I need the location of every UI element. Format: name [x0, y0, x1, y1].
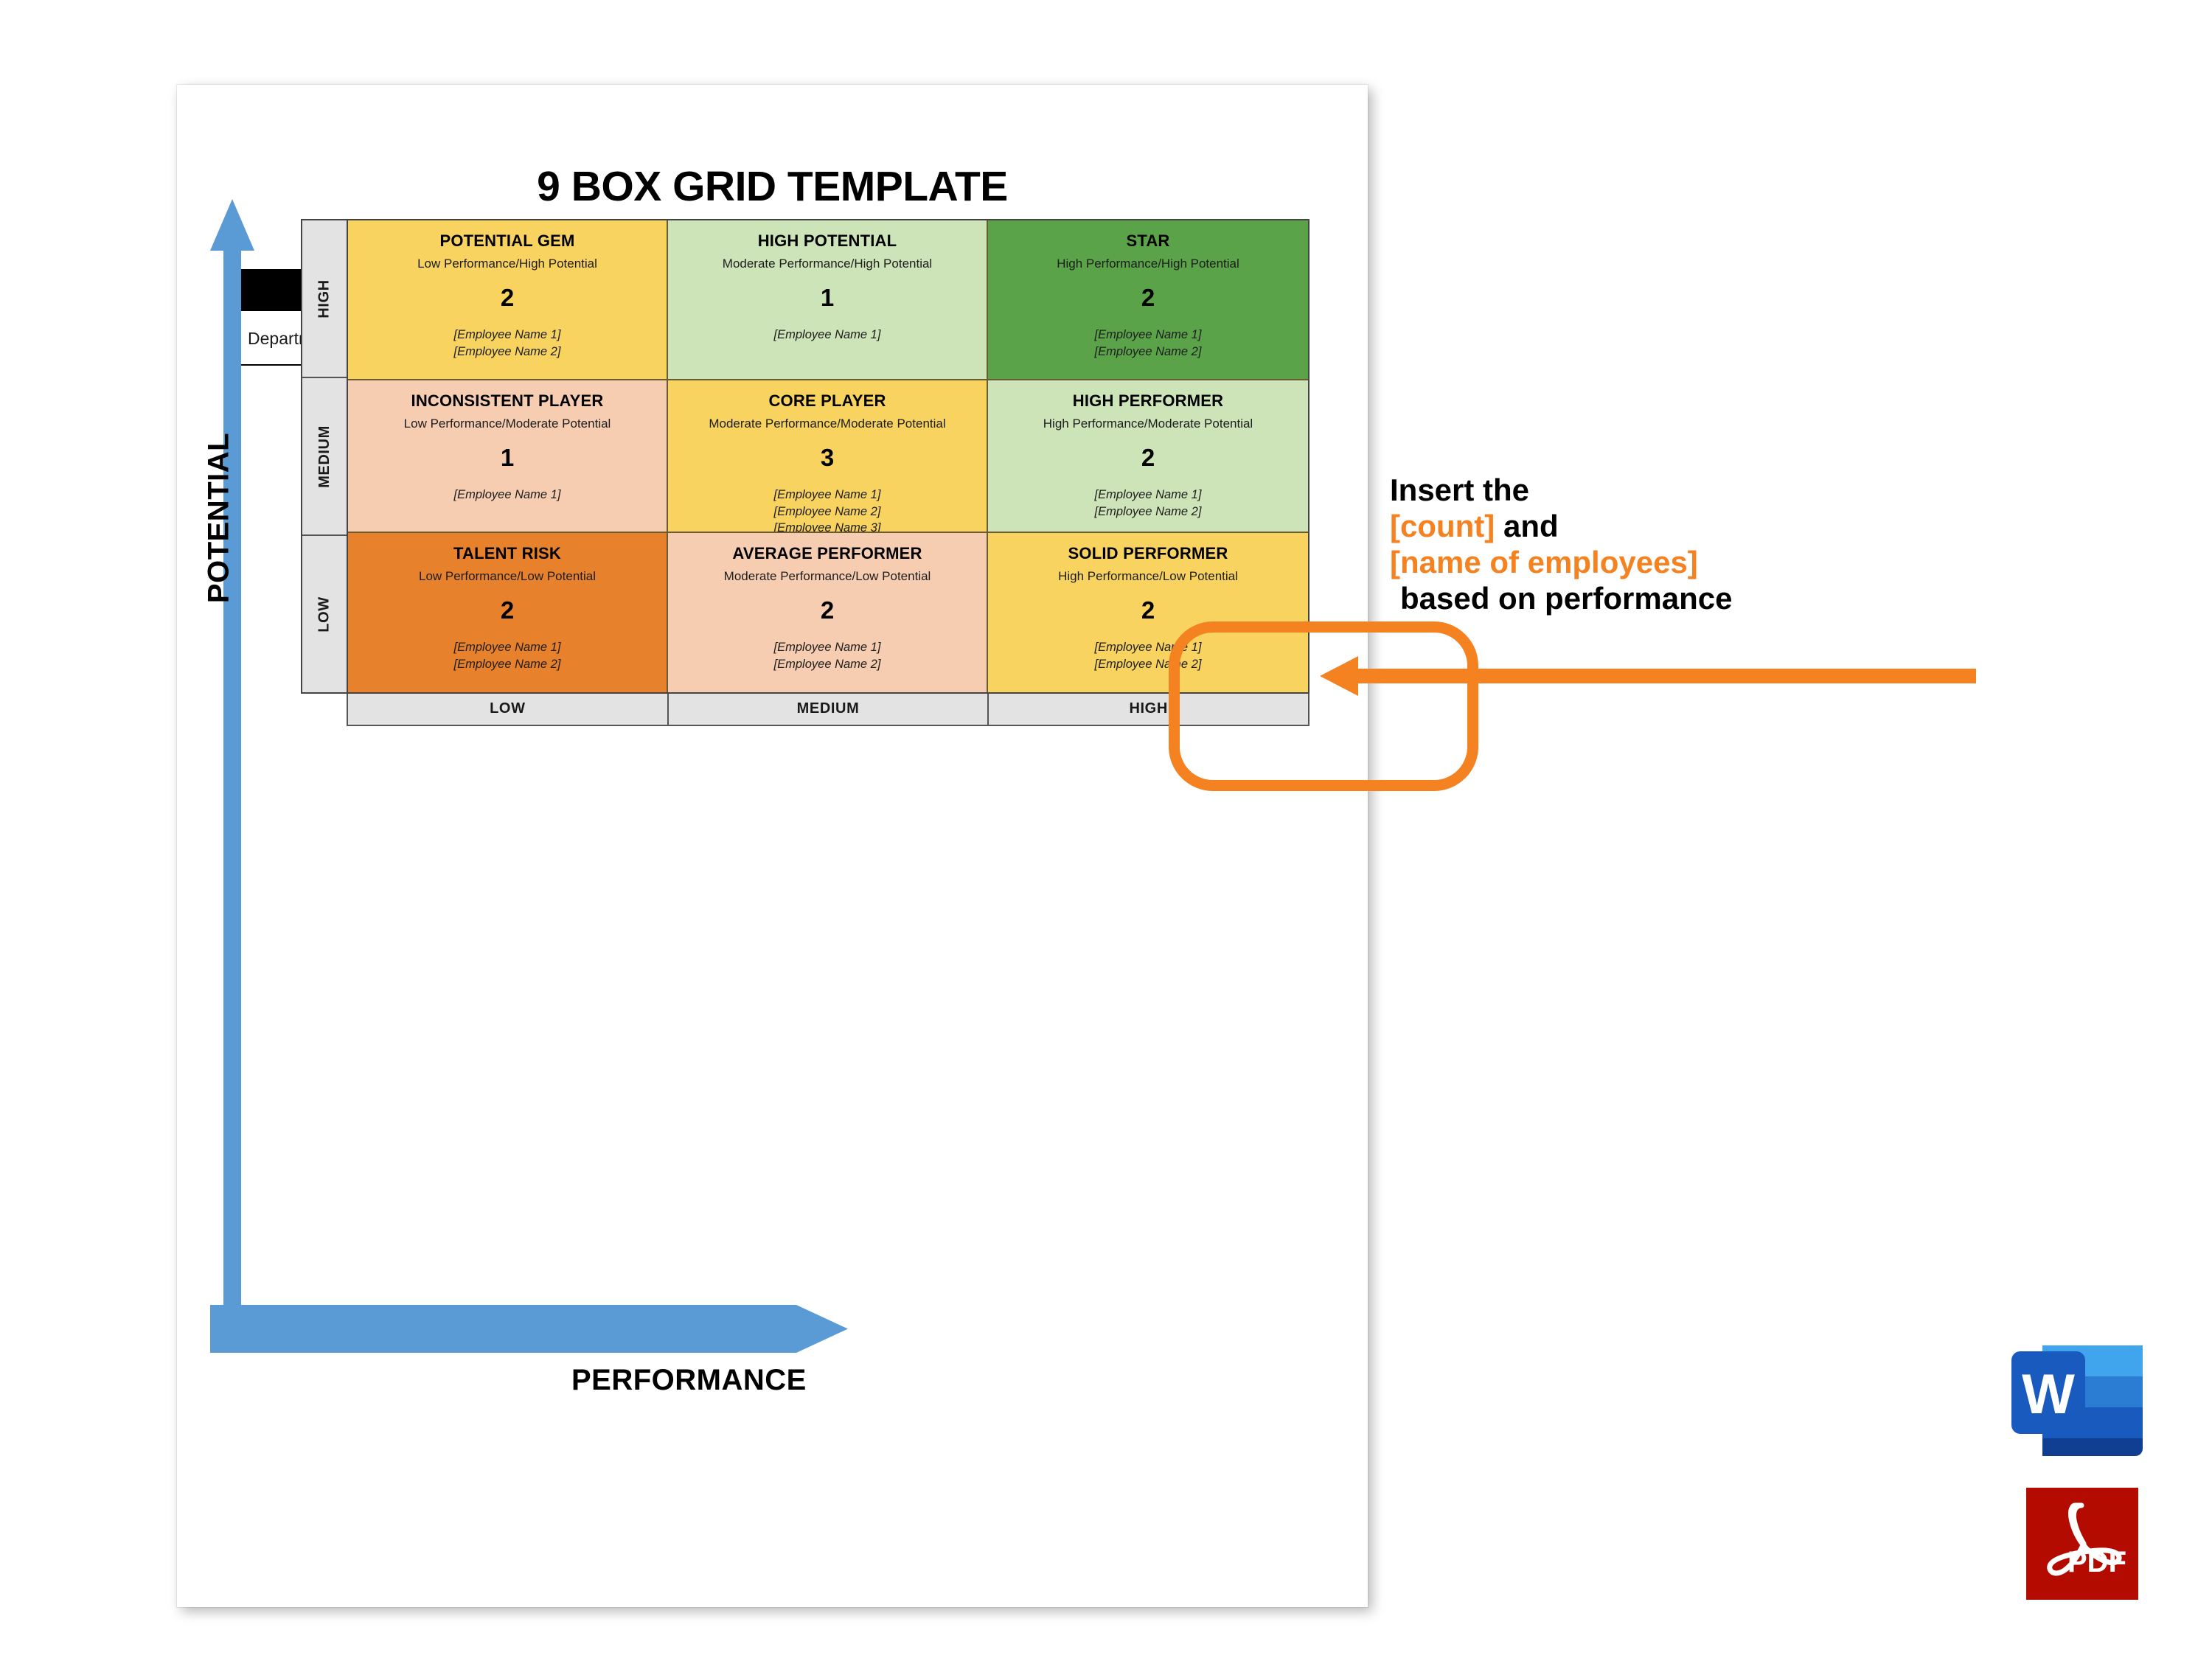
employee-name: [Employee Name 1] [675, 639, 979, 656]
cell-title: CORE PLAYER [675, 391, 979, 411]
employee-name: [Employee Name 1] [355, 487, 659, 504]
svg-text:W: W [2022, 1363, 2075, 1426]
annotation-count-token: [count] [1390, 509, 1495, 543]
grid-cell-high-potential[interactable]: HIGH POTENTIAL Moderate Performance/High… [668, 220, 988, 380]
cell-title: TALENT RISK [355, 543, 659, 564]
word-icon[interactable]: W [2011, 1345, 2143, 1469]
grid-cell-talent-risk[interactable]: TALENT RISK Low Performance/Low Potentia… [348, 533, 668, 692]
cell-subtitle: Low Performance/Low Potential [355, 568, 659, 585]
annotation-pointer-arrow [1320, 655, 1976, 697]
annotation-line-4: based on performance [1390, 580, 1965, 616]
potential-tick-column: HIGH MEDIUM LOW [301, 219, 347, 694]
cell-employee-names: [Employee Name 1] [Employee Name 2] [995, 487, 1301, 520]
potential-tick-high-label: HIGH [316, 279, 333, 318]
cell-employee-names: [Employee Name 1] [Employee Name 2] [355, 639, 659, 673]
employee-name: [Employee Name 2] [995, 344, 1301, 360]
performance-tick-low: LOW [348, 694, 669, 725]
potential-axis-label: POTENTIAL [203, 408, 236, 629]
employee-name: [Employee Name 1] [995, 487, 1301, 504]
cell-employee-names: [Employee Name 1] [Employee Name 2] [355, 327, 659, 360]
document-page: 9 BOX GRID TEMPLATE Information Departme… [177, 85, 1368, 1607]
performance-tick-medium: MEDIUM [669, 694, 990, 725]
employee-name: [Employee Name 2] [355, 344, 659, 360]
grid-cell-average-performer[interactable]: AVERAGE PERFORMER Moderate Performance/L… [668, 533, 988, 692]
potential-tick-high: HIGH [302, 220, 347, 378]
potential-tick-low: LOW [302, 536, 347, 692]
page-title: 9 BOX GRID TEMPLATE [177, 162, 1368, 211]
cell-title: SOLID PERFORMER [995, 543, 1301, 564]
cell-subtitle: High Performance/High Potential [995, 256, 1301, 272]
employee-name: [Employee Name 2] [675, 504, 979, 520]
potential-tick-medium: MEDIUM [302, 378, 347, 536]
cell-employee-names: [Employee Name 1] [675, 327, 979, 344]
cell-title: INCONSISTENT PLAYER [355, 391, 659, 411]
employee-name: [Employee Name 1] [675, 487, 979, 504]
cell-subtitle: High Performance/Moderate Potential [995, 416, 1301, 432]
pdf-icon[interactable]: PDF [2026, 1488, 2138, 1600]
cell-subtitle: Moderate Performance/Low Potential [675, 568, 979, 585]
cell-subtitle: Low Performance/Moderate Potential [355, 416, 659, 432]
employee-name: [Employee Name 2] [995, 656, 1301, 673]
cell-count: 1 [675, 284, 979, 312]
grid-cell-inconsistent-player[interactable]: INCONSISTENT PLAYER Low Performance/Mode… [348, 380, 668, 533]
cell-count: 3 [675, 444, 979, 472]
cell-title: HIGH POTENTIAL [675, 231, 979, 251]
performance-axis-label: PERFORMANCE [571, 1364, 807, 1397]
cell-count: 2 [995, 284, 1301, 312]
annotation-names-token: [name of employees] [1390, 545, 1698, 579]
performance-tick-high: HIGH [989, 694, 1308, 725]
cell-employee-names: [Employee Name 1] [Employee Name 2] [Emp… [675, 487, 979, 533]
grid-cell-high-performer[interactable]: HIGH PERFORMER High Performance/Moderate… [988, 380, 1308, 533]
grid-cells: POTENTIAL GEM Low Performance/High Poten… [347, 219, 1310, 694]
cell-count: 2 [675, 596, 979, 624]
cell-title: HIGH PERFORMER [995, 391, 1301, 411]
employee-name: [Employee Name 2] [355, 656, 659, 673]
cell-subtitle: High Performance/Low Potential [995, 568, 1301, 585]
employee-name: [Employee Name 1] [995, 639, 1301, 656]
potential-tick-medium-label: MEDIUM [316, 425, 333, 488]
svg-text:PDF: PDF [2067, 1546, 2126, 1578]
employee-name: [Employee Name 2] [675, 656, 979, 673]
employee-name: [Employee Name 1] [355, 639, 659, 656]
potential-tick-low-label: LOW [316, 596, 333, 632]
cell-count: 2 [355, 284, 659, 312]
cell-count: 2 [995, 596, 1301, 624]
employee-name: [Employee Name 1] [995, 327, 1301, 344]
annotation-and-text: and [1495, 509, 1558, 543]
grid-cell-core-player[interactable]: CORE PLAYER Moderate Performance/Moderat… [668, 380, 988, 533]
cell-subtitle: Moderate Performance/High Potential [675, 256, 979, 272]
employee-name: [Employee Name 3] [675, 520, 979, 533]
cell-count: 2 [995, 444, 1301, 472]
cell-count: 2 [355, 596, 659, 624]
annotation-callout: Insert the [count] and [name of employee… [1390, 472, 1965, 617]
employee-name: [Employee Name 1] [355, 327, 659, 344]
employee-name: [Employee Name 2] [995, 504, 1301, 520]
cell-employee-names: [Employee Name 1] [Employee Name 2] [675, 639, 979, 673]
cell-subtitle: Moderate Performance/Moderate Potential [675, 416, 979, 432]
performance-tick-row: LOW MEDIUM HIGH [347, 694, 1310, 726]
performance-axis-arrow [210, 1305, 848, 1353]
cell-title: AVERAGE PERFORMER [675, 543, 979, 564]
cell-title: STAR [995, 231, 1301, 251]
nine-box-grid: HIGH MEDIUM LOW POTENTIAL GEM Low Perfor… [301, 219, 1310, 726]
annotation-line-2: [count] and [1390, 508, 1965, 544]
grid-cell-solid-performer[interactable]: SOLID PERFORMER High Performance/Low Pot… [988, 533, 1308, 692]
annotation-line-3: [name of employees] [1390, 544, 1965, 580]
cell-title: POTENTIAL GEM [355, 231, 659, 251]
potential-axis-arrow [210, 199, 254, 1353]
cell-employee-names: [Employee Name 1] [355, 487, 659, 504]
cell-subtitle: Low Performance/High Potential [355, 256, 659, 272]
annotation-line-1: Insert the [1390, 472, 1965, 508]
cell-count: 1 [355, 444, 659, 472]
cell-employee-names: [Employee Name 1] [Employee Name 2] [995, 327, 1301, 360]
cell-employee-names: [Employee Name 1] [Employee Name 2] [995, 639, 1301, 673]
employee-name: [Employee Name 1] [675, 327, 979, 344]
grid-cell-star[interactable]: STAR High Performance/High Potential 2 [… [988, 220, 1308, 380]
grid-cell-potential-gem[interactable]: POTENTIAL GEM Low Performance/High Poten… [348, 220, 668, 380]
